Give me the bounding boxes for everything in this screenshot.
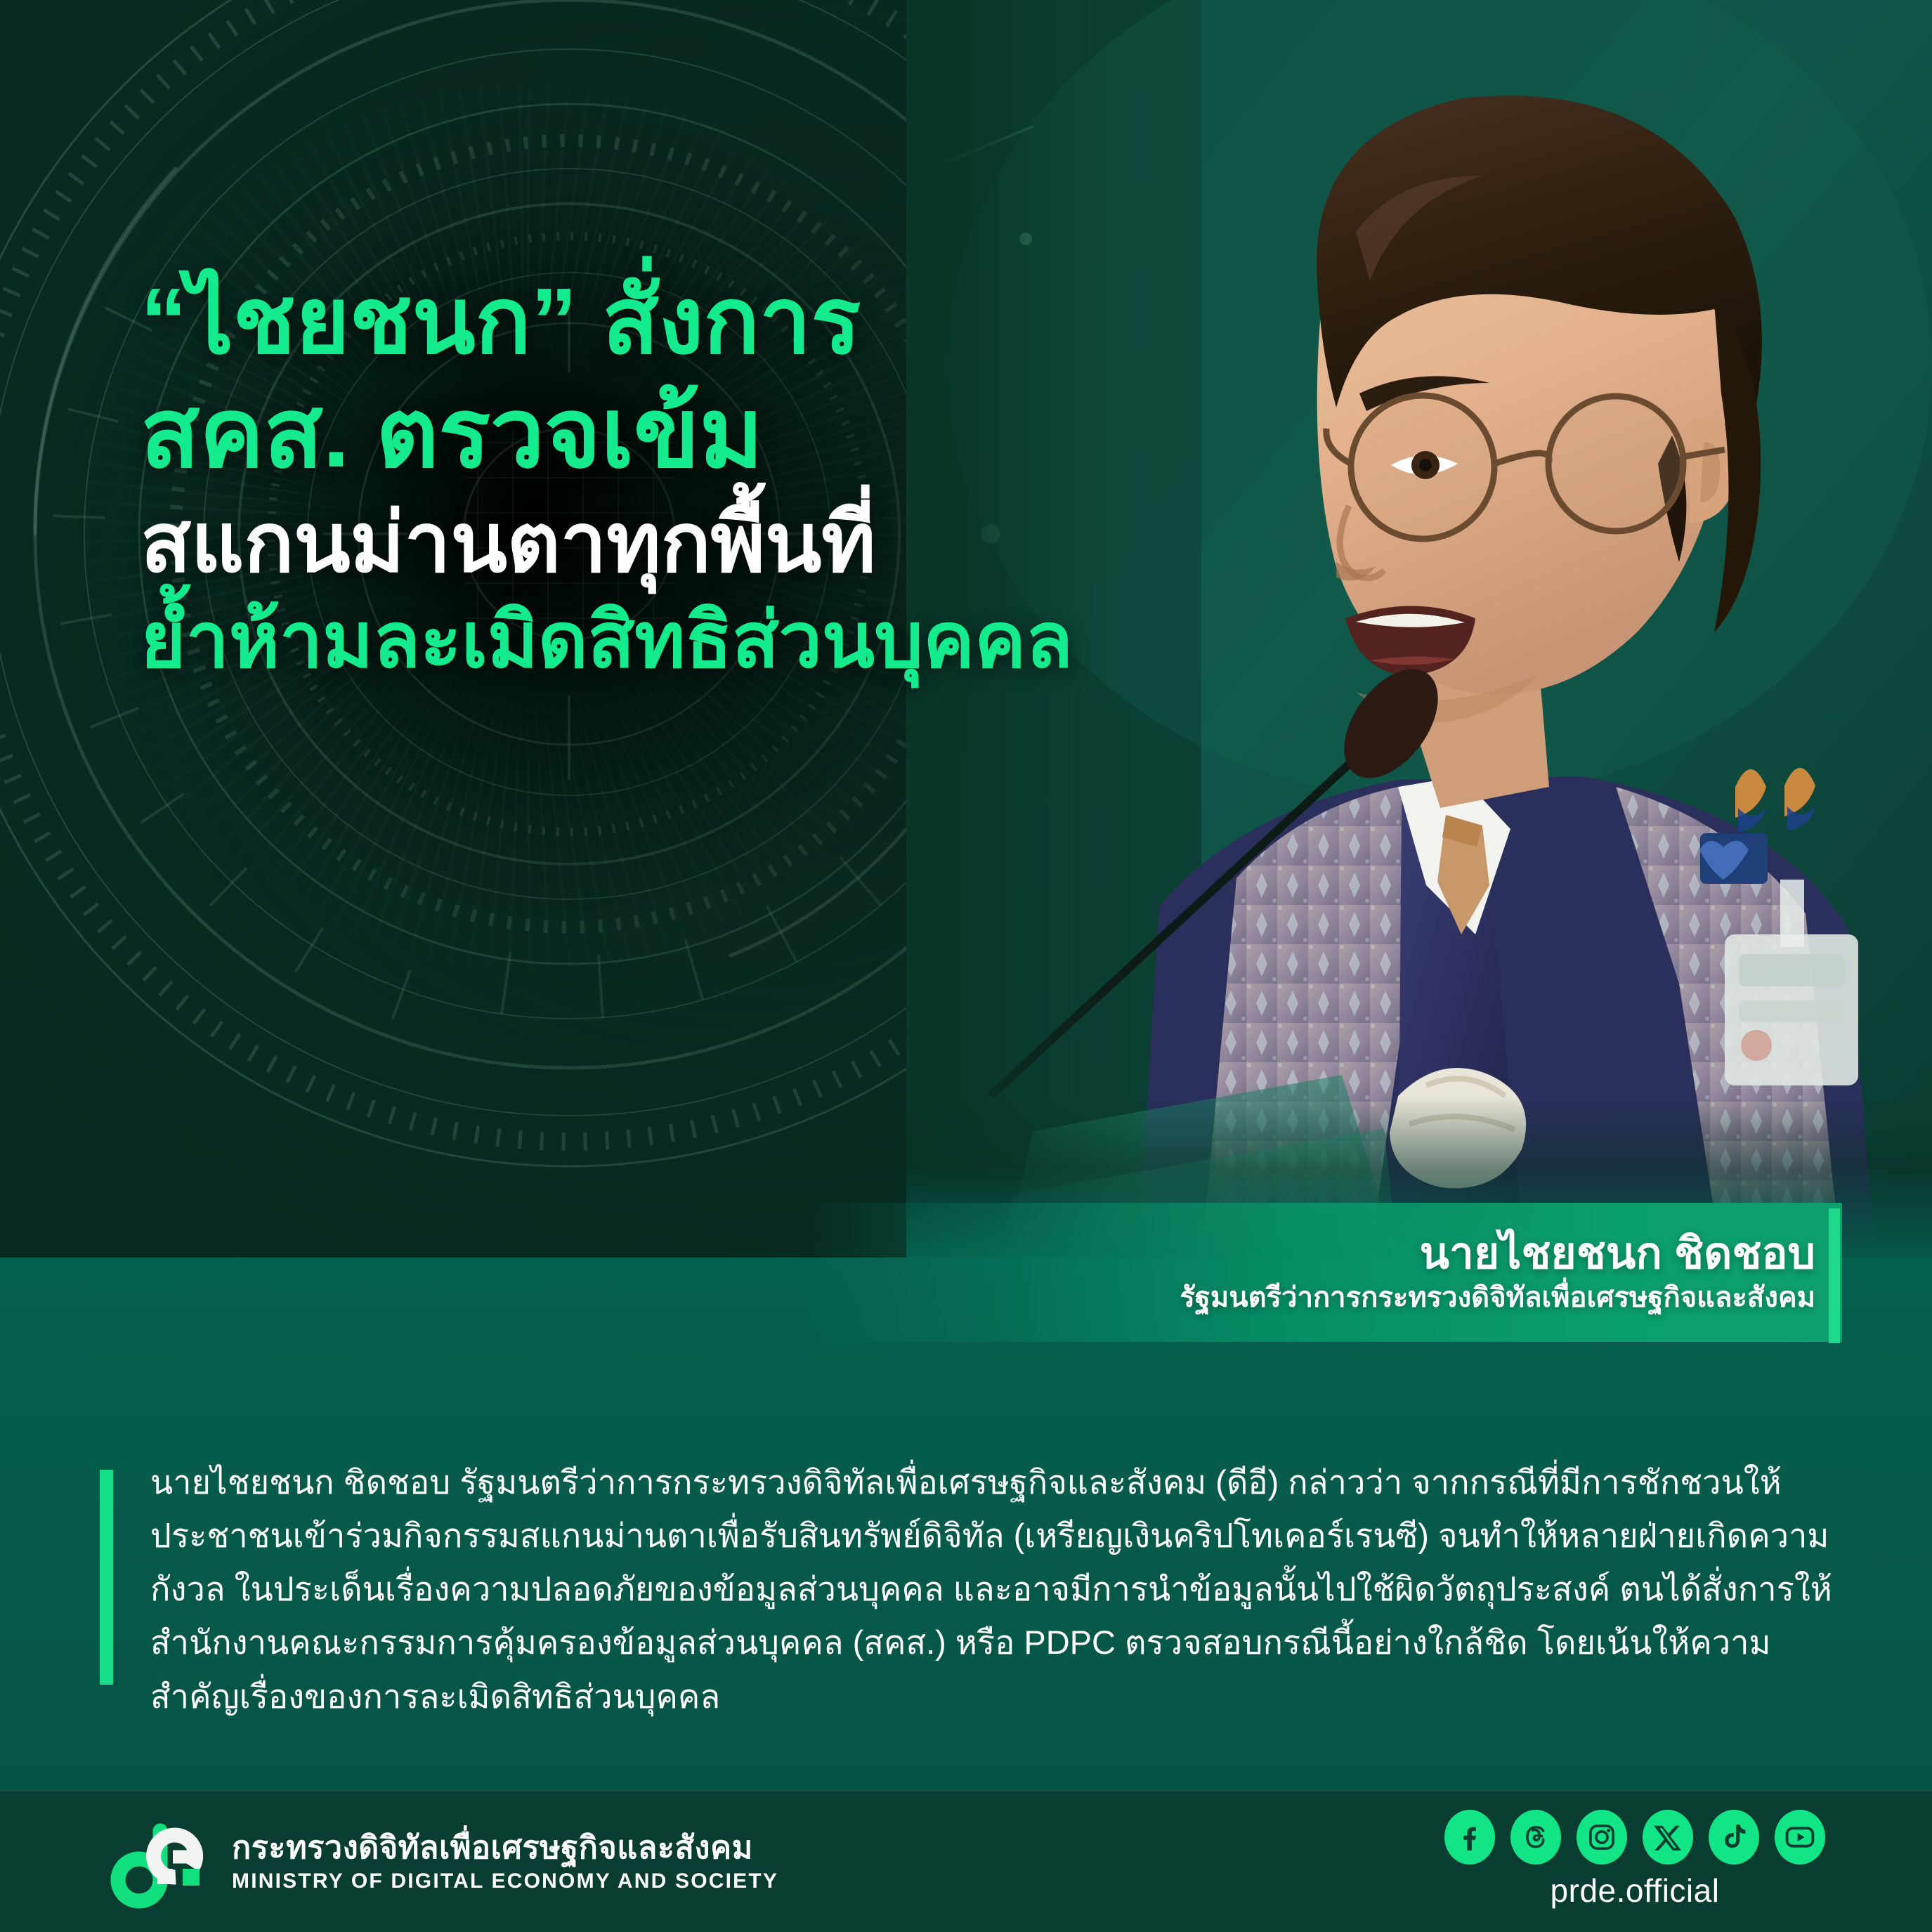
tiktok-icon[interactable] [1709,1810,1759,1865]
threads-icon[interactable] [1510,1810,1561,1865]
body-accent-bar [100,1470,113,1685]
ministry-name-th: กระทรวงดิจิทัลเพื่อเศรษฐกิจและสังคม [232,1830,778,1865]
instagram-icon[interactable] [1577,1810,1627,1865]
headline-line-1: “ไชยชนก” สั่งการ [141,274,1138,369]
x-twitter-icon[interactable] [1643,1810,1693,1865]
headline-line-4: ย้ำห้ามละเมิดสิทธิส่วนบุคคล [141,601,1138,680]
youtube-icon[interactable] [1775,1810,1825,1865]
facebook-icon[interactable] [1444,1810,1495,1865]
body-text-block: นายไชยชนก ชิดชอบ รัฐมนตรีว่าการกระทรวงดิ… [150,1456,1836,1723]
ministry-brand: กระทรวงดิจิทัลเพื่อเศรษฐกิจและสังคม MINI… [105,1813,778,1911]
de-logo-icon [105,1813,211,1911]
headline-line-3: สแกนม่านตาทุกพื้นที่ [141,501,1138,585]
ministry-name-en: MINISTRY OF DIGITAL ECONOMY AND SOCIETY [232,1869,778,1893]
social-handle: prde.official [1551,1872,1720,1910]
speaker-caption-band: นายไชยชนก ชิดชอบ รัฐมนตรีว่าการกระทรวงดิ… [808,1203,1842,1342]
social-icon-row [1444,1810,1825,1865]
headline-block: “ไชยชนก” สั่งการ สคส. ตรวจเข้ม สแกนม่านต… [141,274,1138,680]
speaker-name: นายไชยชนก ชิดชอบ [1420,1231,1815,1278]
speaker-role: รัฐมนตรีว่าการกระทรวงดิจิทัลเพื่อเศรษฐกิ… [1180,1281,1815,1314]
body-paragraph: นายไชยชนก ชิดชอบ รัฐมนตรีว่าการกระทรวงดิ… [150,1456,1836,1723]
speaker-accent-rule [1829,1208,1840,1343]
footer-bar: กระทรวงดิจิทัลเพื่อเศรษฐกิจและสังคม MINI… [0,1791,1932,1932]
headline-line-2: สคส. ตรวจเข้ม [141,384,1138,483]
news-graphic-poster: “ไชยชนก” สั่งการ สคส. ตรวจเข้ม สแกนม่านต… [0,0,1932,1932]
social-block: prde.official [1444,1810,1825,1910]
